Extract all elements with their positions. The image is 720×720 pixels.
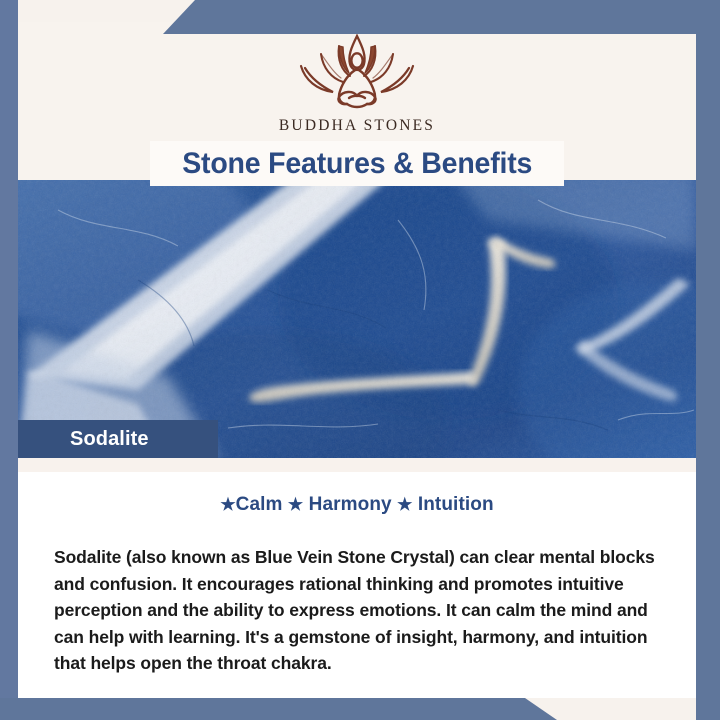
title-band: Stone Features & Benefits: [150, 141, 564, 186]
left-accent-rail: [0, 0, 18, 720]
keyword-harmony: Harmony: [309, 494, 392, 515]
keyword-calm: Calm: [236, 494, 283, 515]
cream-divider-strip: [18, 458, 696, 472]
stone-photo: Sodalite: [18, 180, 696, 458]
sodalite-texture-graphic: [18, 180, 696, 458]
star-icon-1: ★: [220, 495, 235, 514]
stone-name: Sodalite: [70, 428, 149, 451]
star-icon-2: ★: [288, 495, 303, 514]
star-icon-3: ★: [397, 495, 412, 514]
poster-header: BUDDHA STONES Stone Features & Benefits: [18, 22, 696, 180]
right-accent-rail: [696, 0, 720, 720]
keyword-intuition: Intuition: [418, 494, 494, 515]
poster-card: BUDDHA STONES Stone Features & Benefits: [18, 22, 696, 698]
poster-body: ★Calm ★ Harmony ★ Intuition Sodalite (al…: [18, 472, 696, 698]
brand-name: BUDDHA STONES: [279, 117, 435, 135]
stone-description: Sodalite (also known as Blue Vein Stone …: [38, 544, 676, 677]
stone-name-badge: Sodalite: [18, 420, 218, 458]
stone-info-poster: BUDDHA STONES Stone Features & Benefits: [0, 0, 720, 720]
page-title: Stone Features & Benefits: [182, 147, 532, 181]
bottom-accent-band: [0, 698, 720, 720]
keyword-list: ★Calm ★ Harmony ★ Intuition: [38, 494, 676, 516]
brand-logo: BUDDHA STONES: [18, 28, 696, 135]
lotus-meditation-icon: [283, 28, 431, 116]
